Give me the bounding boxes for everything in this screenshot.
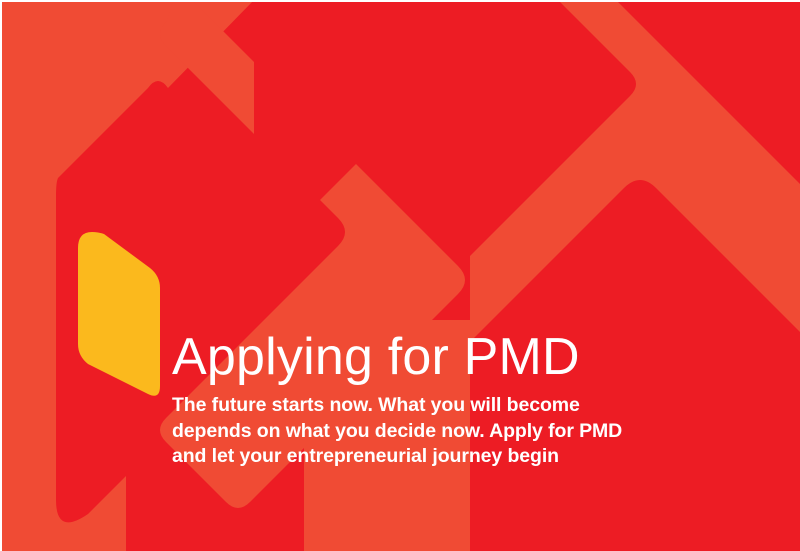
subtitle-line: depends on what you decide now. Apply fo…	[172, 419, 572, 445]
banner-subtitle: The future starts now. What you will bec…	[172, 393, 572, 470]
promo-banner: Applying for PMD The future starts now. …	[0, 0, 800, 551]
banner-text-block: Applying for PMD The future starts now. …	[172, 328, 732, 470]
subtitle-line: and let your entrepreneurial journey beg…	[172, 444, 572, 470]
subtitle-line: The future starts now. What you will bec…	[172, 393, 572, 419]
page-title: Applying for PMD	[172, 328, 732, 386]
